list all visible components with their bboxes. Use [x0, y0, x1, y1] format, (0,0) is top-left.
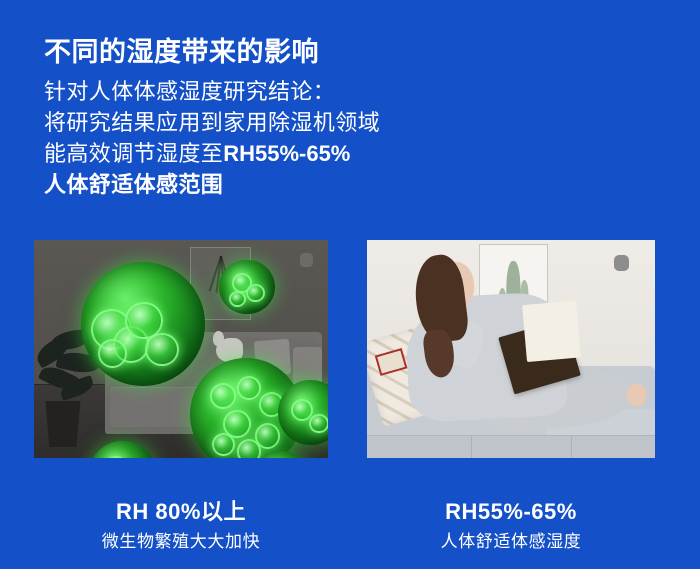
caption-subtitle: 人体舒适体感湿度 — [367, 531, 655, 553]
caption-high-humidity: RH 80%以上 微生物繁殖大大加快 — [34, 498, 328, 553]
caption-comfort-humidity: RH55%-65% 人体舒适体感湿度 — [367, 498, 655, 553]
plant-pot — [43, 401, 83, 447]
microbe-cell — [237, 376, 261, 400]
caption-title: RH 80%以上 — [34, 498, 328, 526]
woman-foot — [626, 384, 646, 406]
light-sofa-seam — [571, 436, 572, 458]
intro-paragraph: 针对人体体感湿度研究结论： 将研究结果应用到家用除湿机领域 能高效调节湿度至RH… — [44, 76, 464, 200]
microbe-cell — [145, 333, 179, 367]
microbe-cell — [246, 284, 265, 302]
book-page — [523, 301, 582, 362]
microbe-cell — [212, 433, 235, 456]
microbe-cell — [309, 414, 328, 434]
intro-line-3-text: 能高效调节湿度至 — [44, 141, 223, 166]
page-title: 不同的湿度带来的影响 — [44, 35, 319, 69]
microbe-blob — [81, 262, 204, 386]
microbe-cell — [210, 383, 236, 410]
dark-room-scene — [34, 240, 328, 458]
light-sofa-seat — [367, 435, 655, 458]
caption-title: RH55%-65% — [367, 498, 655, 526]
microbe-cell — [229, 291, 245, 307]
dark-wall-knob — [300, 253, 313, 267]
humidity-infographic-poster: 不同的湿度带来的影响 针对人体体感湿度研究结论： 将研究结果应用到家用除湿机领域… — [0, 0, 700, 569]
light-room-scene — [367, 240, 655, 458]
microbe-blob — [219, 260, 275, 315]
light-wall-knob — [614, 255, 629, 271]
humidity-range-emphasis: RH55%-65% — [223, 141, 350, 166]
intro-line-1: 针对人体体感湿度研究结论： — [44, 76, 464, 107]
photo-high-humidity — [34, 240, 328, 458]
photo-comfort-humidity — [367, 240, 655, 458]
microbe-cell — [237, 439, 261, 458]
intro-line-4: 人体舒适体感范围 — [44, 169, 464, 200]
caption-subtitle: 微生物繁殖大大加快 — [34, 531, 328, 553]
intro-line-3: 能高效调节湿度至RH55%-65% — [44, 138, 464, 169]
intro-line-2: 将研究结果应用到家用除湿机领域 — [44, 107, 464, 138]
light-sofa-seam — [471, 436, 472, 458]
microbe-cell — [98, 339, 127, 368]
microbe-cell — [105, 456, 127, 458]
